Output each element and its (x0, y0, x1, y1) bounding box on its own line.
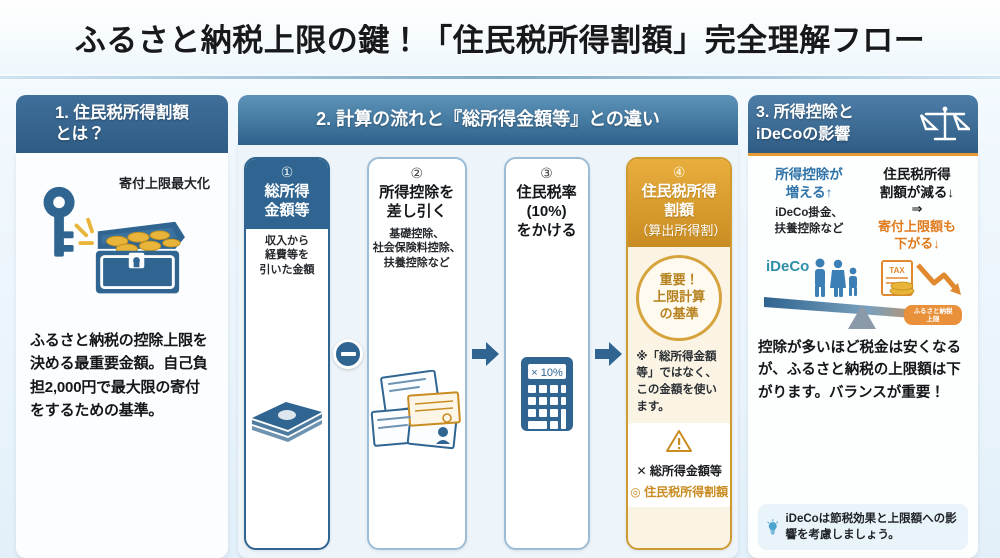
family-icon (815, 258, 857, 297)
right-col-orange: 寄付上限額も 下がる↓ (866, 219, 968, 253)
ideco-tip-box: iDeCoは節税効果と上限額への影響を考慮しましょう。 (758, 504, 968, 550)
svg-text:TAX: TAX (889, 266, 905, 275)
ideco-right-column: 住民税所得 割額が減る↓ ⇒ 寄付上限額も 下がる↓ (866, 166, 968, 253)
cash-stack-icon (246, 384, 328, 442)
step-3-number: ③ (540, 165, 553, 182)
seesaw-illustration: iDeCo TAX (758, 255, 968, 329)
stamp-line-1: 重要！ (660, 272, 699, 289)
panel-2-header: 2. 計算の流れと『総所得金額等』との違い (238, 95, 738, 145)
stamp-line-2: 上限計算 (653, 289, 705, 306)
step-2-title: 所得控除を 差し引く (376, 184, 457, 222)
panel-1-heading-line1: 1. 住民税所得割額 (55, 103, 189, 124)
panel-1-illustration: 寄付上限最大化 (30, 169, 214, 319)
title-bar: ふるさと納税上限の鍵！「住民税所得割額」完全理解フロー (0, 0, 1000, 74)
panel-1-heading-line2: とは？ (55, 124, 189, 145)
seesaw-graphic: iDeCo TAX (758, 255, 968, 329)
svg-text:上限: 上限 (927, 314, 941, 323)
ideco-left-column: 所得控除が 増える↑ iDeCo掛金、 扶養控除など (758, 166, 860, 253)
warning-row-incorrect: ✕ 総所得金額等 (630, 462, 728, 479)
warning-row-correct: ◎ 住民税所得割額 (630, 483, 728, 500)
step-1-title: 総所得 金額等 (250, 183, 324, 221)
operator-minus (332, 157, 365, 550)
step-3-title: 住民税率 (10%) をかける (514, 184, 580, 240)
panel-2-body: ① 総所得 金額等 収入から 経費等を 引いた金額 (238, 145, 738, 558)
flow-step-3: ③ 住民税率 (10%) をかける × 10% (504, 157, 590, 550)
right-col-headline: 住民税所得 割額が減る↓ (866, 166, 968, 201)
step-4-title: 住民税所得割額 (632, 183, 726, 221)
panel-calculation-flow: 2. 計算の流れと『総所得金額等』との違い ① 総所得 金額等 収入から 経費等… (238, 95, 738, 558)
step-2-subtitle: 基礎控除、 社会保険料控除、 扶養控除など (370, 227, 464, 272)
panel-1-body: 寄付上限最大化 (16, 153, 228, 558)
flow-step-2: ② 所得控除を 差し引く 基礎控除、 社会保険料控除、 扶養控除など (367, 157, 467, 550)
step-1-subtitle: 収入から 経費等を 引いた金額 (256, 234, 317, 279)
step-4-number: ④ (632, 164, 726, 181)
right-col-arrow: ⇒ (866, 201, 968, 217)
flow-step-1: ① 総所得 金額等 収入から 経費等を 引いた金額 (244, 157, 330, 550)
stamp-line-3: の基準 (660, 306, 699, 323)
left-col-headline: 所得控除が 増える↑ (758, 166, 860, 201)
page-title: ふるさと納税上限の鍵！「住民税所得割額」完全理解フロー (75, 15, 926, 60)
step-4-note: ※「総所得金額等」ではなく、この金額を使います。 (628, 341, 730, 416)
lightbulb-icon (766, 514, 779, 540)
flow-arrow-1 (469, 157, 502, 550)
right-arrow-icon (470, 339, 500, 369)
donation-max-caption: 寄付上限最大化 (119, 173, 210, 192)
panel-3-body: 所得控除が 増える↑ iDeCo掛金、 扶養控除など 住民税所得 割額が減る↓ … (748, 153, 978, 558)
panel-3-heading-line1: 3. 所得控除と (756, 102, 854, 124)
ideco-comparison-columns: 所得控除が 増える↑ iDeCo掛金、 扶養控除など 住民税所得 割額が減る↓ … (758, 166, 968, 253)
step-2-number: ② (411, 165, 424, 182)
important-stamp: 重要！ 上限計算 の基準 (636, 255, 722, 341)
step-3-art: × 10% (506, 240, 588, 548)
flow-arrow-2 (592, 157, 625, 550)
step-1-number: ① (250, 164, 324, 181)
minus-circle-icon (333, 339, 363, 369)
svg-text:ふるさと納税: ふるさと納税 (914, 306, 954, 315)
infographic-stage: 1. 住民税所得割額 とは？ 寄付上限最大化 (0, 95, 1000, 558)
panel-definition: 1. 住民税所得割額 とは？ 寄付上限最大化 (16, 95, 228, 558)
ideco-tip-text: iDeCoは節税効果と上限額への影響を考慮しましょう。 (785, 511, 960, 543)
panel-ideco-impact: 3. 所得控除と iDeCoの影響 所得控除が 増える↑ (748, 95, 978, 558)
furusato-limit-badge: ふるさと納税 上限 (904, 305, 962, 325)
balance-scale-icon (920, 103, 970, 145)
flow-step-4: ④ 住民税所得割額 （算出所得割） 重要！ 上限計算 の基準 ※「総所得金額等」… (626, 157, 732, 550)
down-trend-arrow-icon (918, 265, 956, 289)
panel-1-body-text: ふるさと納税の控除上限を決める最重要金額。自己負担2,000円で最大限の寄付をす… (30, 329, 214, 422)
documents-icon (369, 370, 465, 450)
panel-2-heading: 2. 計算の流れと『総所得金額等』との違い (316, 108, 660, 131)
comparison-warning-box: ✕ 総所得金額等 ◎ 住民税所得割額 (626, 423, 732, 507)
step-4-subtitle: （算出所得割） (632, 223, 726, 239)
tax-document-icon: TAX (882, 261, 914, 295)
panel-3-body-text: 控除が多いほど税金は安くなるが、ふるさと納税の上限額は下がります。バランスが重要… (758, 337, 968, 404)
seesaw-ideco-label: iDeCo (766, 258, 809, 275)
step-1-art (246, 278, 328, 548)
panel-1-header: 1. 住民税所得割額 とは？ (16, 95, 228, 153)
step-2-art (369, 271, 465, 548)
left-col-sub: iDeCo掛金、 扶養控除など (758, 205, 860, 237)
panel-3-header: 3. 所得控除と iDeCoの影響 (748, 95, 978, 153)
calculator-display: × 10% (531, 367, 563, 379)
calculator-icon: × 10% (517, 355, 577, 433)
warning-triangle-icon (665, 429, 693, 453)
title-divider (0, 76, 1000, 79)
panel-3-heading-line2: iDeCoの影響 (756, 124, 854, 146)
right-arrow-icon (593, 339, 623, 369)
